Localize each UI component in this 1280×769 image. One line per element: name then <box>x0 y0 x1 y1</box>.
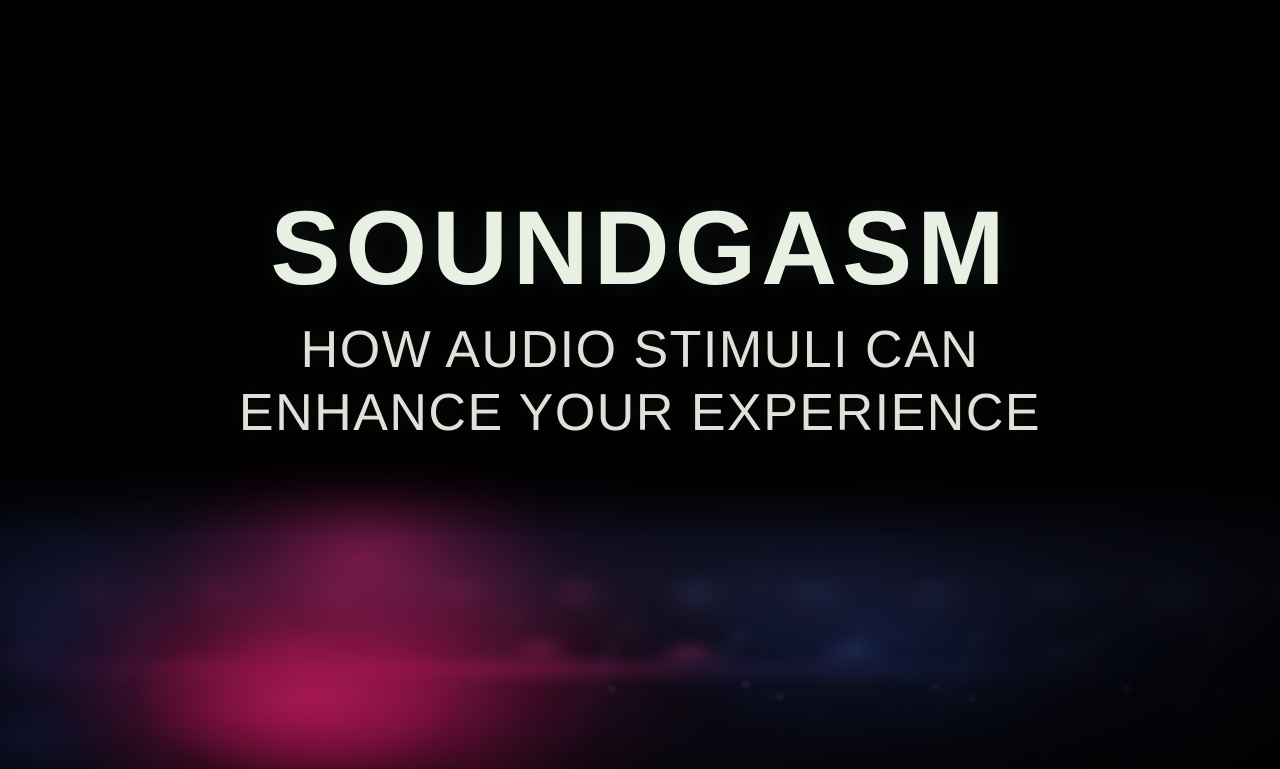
subtitle-line-2: ENHANCE YOUR EXPERIENCE <box>0 382 1280 445</box>
channel-strip <box>400 529 496 769</box>
page-title: SOUNDGASM <box>0 196 1280 301</box>
console-label-tick <box>340 681 347 684</box>
console-label-tick <box>1124 687 1131 690</box>
subtitle: HOW AUDIO STIMULI CAN ENHANCE YOUR EXPER… <box>0 319 1280 445</box>
subtitle-line-1: HOW AUDIO STIMULI CAN <box>0 319 1280 382</box>
console-label-tick <box>968 697 975 700</box>
console-channel-strips <box>0 529 1280 769</box>
console-label-tick <box>742 683 749 686</box>
console-label-tick <box>1216 691 1223 694</box>
console-label-tick <box>608 687 615 690</box>
console-label-row <box>0 669 1280 709</box>
console-label-tick <box>392 695 399 698</box>
console-label-tick <box>932 685 939 688</box>
channel-strip <box>160 529 256 769</box>
channel-strip <box>40 529 136 769</box>
console-label-tick <box>206 683 213 686</box>
channel-strip <box>1240 529 1280 769</box>
console-label-tick <box>452 685 459 688</box>
console-label-tick <box>262 693 269 696</box>
console-label-tick <box>776 695 783 698</box>
title-text-block: SOUNDGASM HOW AUDIO STIMULI CAN ENHANCE … <box>0 196 1280 445</box>
console-label-tick <box>118 679 125 682</box>
title-card-canvas: SOUNDGASM HOW AUDIO STIMULI CAN ENHANCE … <box>0 0 1280 769</box>
channel-strip <box>880 529 976 769</box>
console-label-tick <box>152 691 159 694</box>
channel-strip <box>1120 529 1216 769</box>
